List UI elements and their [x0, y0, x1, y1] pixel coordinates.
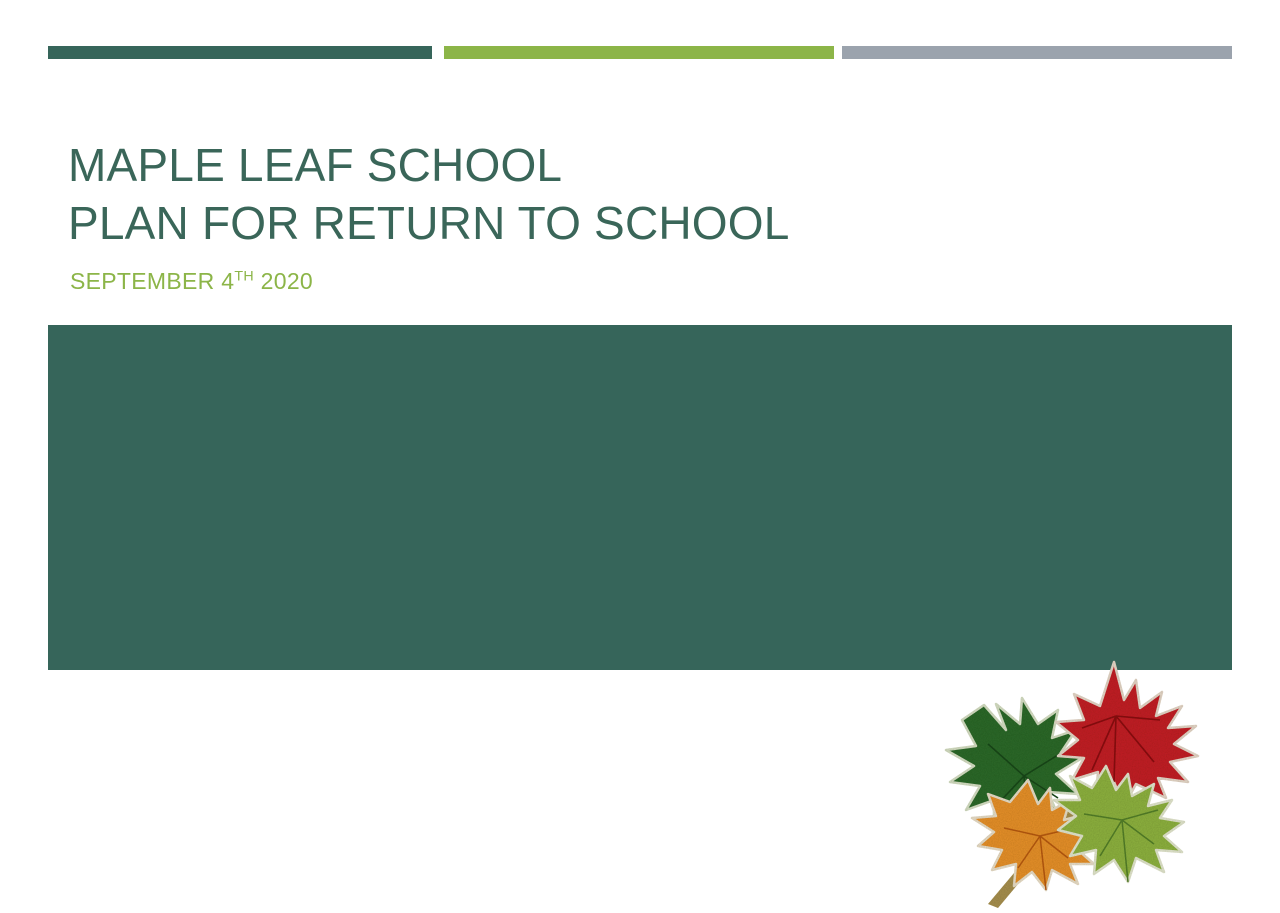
page-title: MAPLE LEAF SCHOOL PLAN FOR RETURN TO SCH…: [68, 136, 1208, 252]
slide-canvas: MAPLE LEAF SCHOOL PLAN FOR RETURN TO SCH…: [0, 0, 1280, 720]
title-line-1: MAPLE LEAF SCHOOL: [68, 136, 1208, 194]
maple-leaf-cluster-image: [910, 658, 1200, 913]
content-panel: [48, 325, 1232, 670]
title-block: MAPLE LEAF SCHOOL PLAN FOR RETURN TO SCH…: [68, 136, 1208, 296]
rule-segment-green: [444, 46, 834, 59]
rule-segment-dark-green: [48, 46, 432, 59]
rule-segment-gray: [842, 46, 1232, 59]
title-line-2: PLAN FOR RETURN TO SCHOOL: [68, 194, 1208, 252]
top-decorative-rule: [0, 46, 1280, 60]
subtitle-year: 2020: [254, 268, 313, 294]
subtitle-ordinal-suffix: TH: [234, 268, 254, 284]
subtitle-date-prefix: SEPTEMBER 4: [70, 268, 234, 294]
page-subtitle: SEPTEMBER 4TH 2020: [70, 266, 1208, 296]
